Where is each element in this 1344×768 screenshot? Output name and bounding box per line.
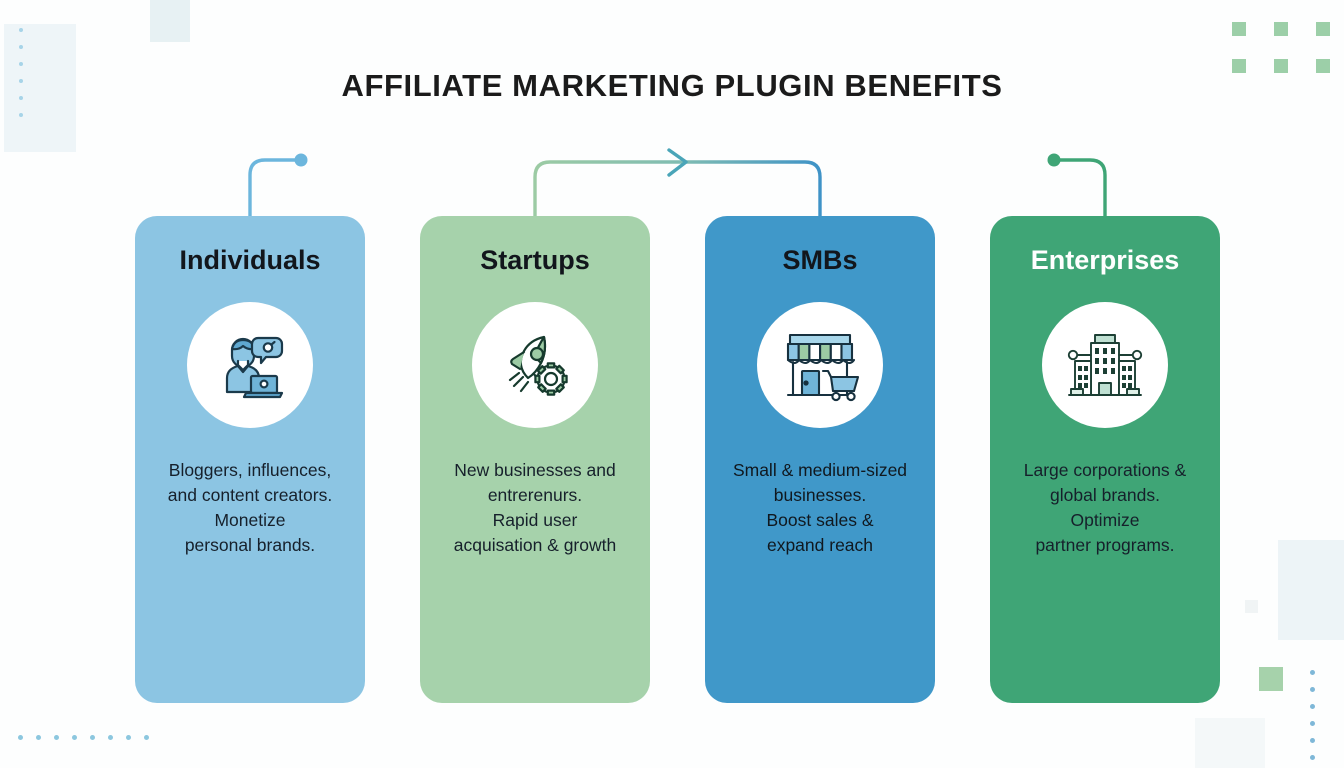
card-individuals[interactable]: Individuals Bloggers, influences, and co… bbox=[135, 216, 365, 703]
card-startups[interactable]: Startups bbox=[420, 216, 650, 703]
card-description-startups: New businesses and entrerenurs. Rapid us… bbox=[428, 458, 642, 558]
person-laptop-icon bbox=[187, 302, 313, 428]
card-title-enterprises: Enterprises bbox=[1031, 247, 1180, 274]
connector-path-enterprises bbox=[1060, 160, 1105, 216]
card-title-startups: Startups bbox=[480, 247, 590, 274]
office-building-icon bbox=[1042, 302, 1168, 428]
card-title-individuals: Individuals bbox=[179, 247, 320, 274]
connector-path-individuals bbox=[250, 160, 296, 216]
card-description-individuals: Bloggers, influences, and content creato… bbox=[143, 458, 357, 558]
connector-dot-enterprises bbox=[1048, 154, 1061, 167]
card-description-smbs: Small & medium-sized businesses. Boost s… bbox=[713, 458, 927, 558]
card-title-smbs: SMBs bbox=[782, 247, 857, 274]
card-enterprises[interactable]: Enterprises bbox=[990, 216, 1220, 703]
card-description-enterprises: Large corporations & global brands. Opti… bbox=[998, 458, 1212, 558]
card-smbs[interactable]: SMBs bbox=[705, 216, 935, 703]
infographic-slide: AFFILIATE MARKETING PLUGIN BENEFITS Indi… bbox=[0, 0, 1344, 768]
connector-dot-individuals bbox=[295, 154, 308, 167]
storefront-cart-icon bbox=[757, 302, 883, 428]
rocket-gear-icon bbox=[472, 302, 598, 428]
